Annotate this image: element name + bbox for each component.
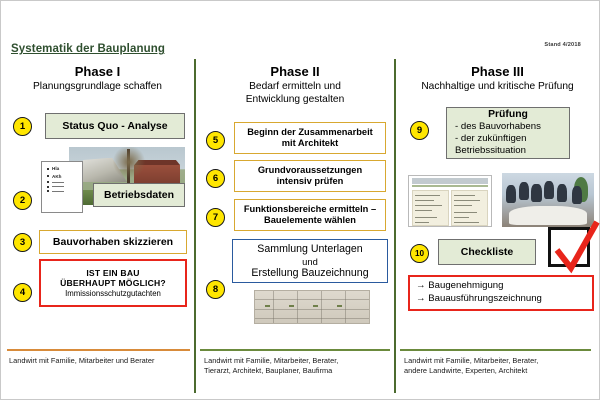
- phase-1-header: Phase I Planungsgrundlage schaffen: [7, 59, 188, 93]
- step-10-label: Checkliste: [461, 246, 514, 258]
- doc-pane: [451, 190, 488, 226]
- step-8-line-3: Erstellung Bauzeichnung: [251, 267, 368, 280]
- step-8-box[interactable]: Sammlung Unterlagen und Erstellung Bauze…: [232, 239, 388, 283]
- step-number-3[interactable]: 3: [13, 233, 32, 252]
- phase-2-header: Phase II Bedarf ermitteln und Entwicklun…: [202, 59, 388, 106]
- result-box[interactable]: → Baugenehmigung → Bauausführungszeichnu…: [408, 275, 594, 311]
- doc-header-bar: [412, 178, 488, 184]
- data-row: [47, 190, 77, 192]
- phase-2-heading: Phase II: [202, 65, 388, 80]
- step-number-1[interactable]: 1: [13, 117, 32, 136]
- step-7-line-1: Funktionsbereiche ermitteln –: [244, 204, 376, 215]
- phase-1-subheading: Planungsgrundlage schaffen: [7, 81, 188, 93]
- phase-3-column: Phase III Nachhaltige und kritische Prüf…: [396, 59, 599, 393]
- result-line-2: → Bauausführungszeichnung: [416, 293, 542, 306]
- phase-3-footer-line-1: Landwirt mit Familie, Mitarbeiter, Berat…: [404, 356, 593, 366]
- doc-subheader-bar: [412, 185, 488, 187]
- phase-2-footer-line-1: Landwirt mit Familie, Mitarbeiter, Berat…: [204, 356, 388, 366]
- doc-pane: [412, 190, 449, 226]
- result-line-1: → Baugenehmigung: [416, 280, 503, 293]
- phase-3-footer-line-2: andere Landwirte, Experten, Architekt: [404, 366, 593, 376]
- step-3-label: Bauvorhaben skizzieren: [53, 236, 173, 248]
- step-9-box[interactable]: Prüfung - des Bauvorhabens - der zukünft…: [446, 107, 570, 159]
- phase-3-body: 9 Prüfung - des Bauvorhabens - der zukün…: [402, 99, 593, 351]
- phase-1-heading: Phase I: [7, 65, 188, 80]
- step-6-box[interactable]: Grundvoraussetzungen intensiv prüfen: [234, 160, 386, 192]
- step-9-line-1: - des Bauvorhabens: [455, 121, 541, 133]
- step-8-line-1: Sammlung Unterlagen: [257, 243, 362, 256]
- checkmark-svg: [547, 220, 600, 278]
- step-9-line-3: Betriebssituation: [455, 145, 526, 157]
- phase-3-footer: Landwirt mit Familie, Mitarbeiter, Berat…: [404, 356, 593, 376]
- step-2-box[interactable]: Betriebsdaten: [93, 183, 185, 207]
- step-9-line-2: - der zukünftigen: [455, 133, 526, 145]
- step-1-box[interactable]: Status Quo - Analyse: [45, 113, 185, 139]
- step-8-line-2: und: [302, 256, 318, 267]
- checklist-document-thumbnail: [408, 175, 492, 227]
- step-7-box[interactable]: Funktionsbereiche ermitteln – Bauelement…: [234, 199, 386, 231]
- step-5-box[interactable]: Beginn der Zusammenarbeit mit Architekt: [234, 122, 386, 154]
- phase-3-header: Phase III Nachhaltige und kritische Prüf…: [402, 59, 593, 93]
- step-5-line-2: mit Architekt: [282, 138, 338, 149]
- step-9-title: Prüfung: [455, 109, 561, 121]
- data-row: AKh: [47, 174, 77, 179]
- group-meeting-photo: [502, 173, 594, 227]
- construction-drawing-photo: [254, 290, 370, 324]
- page-title: Systematik der Bauplanung: [11, 43, 165, 55]
- phase-3-subheading: Nachhaltige und kritische Prüfung: [402, 81, 593, 93]
- step-number-10[interactable]: 10: [410, 244, 429, 263]
- step-6-line-1: Grundvoraussetzungen: [258, 165, 362, 176]
- step-5-line-1: Beginn der Zusammenarbeit: [247, 127, 373, 138]
- phase-columns: Phase I Planungsgrundlage schaffen 1 Sta…: [1, 59, 599, 393]
- step-10-box[interactable]: Checkliste: [438, 239, 536, 265]
- step-number-5[interactable]: 5: [206, 131, 225, 150]
- step-number-7[interactable]: 7: [206, 208, 225, 227]
- phase-1-footer: Landwirt mit Familie, Mitarbeiter und Be…: [9, 356, 188, 366]
- phase-2-footer: Landwirt mit Familie, Mitarbeiter, Berat…: [204, 356, 388, 376]
- step-2-label: Betriebsdaten: [104, 189, 174, 201]
- step-6-line-2: intensiv prüfen: [277, 176, 344, 187]
- step-4-line-1: IST EIN BAU: [86, 268, 139, 278]
- step-number-9[interactable]: 9: [410, 121, 429, 140]
- step-number-2[interactable]: 2: [13, 191, 32, 210]
- slide-canvas: Systematik der Bauplanung Stand 4/2018 P…: [0, 0, 600, 400]
- doc-panes: [409, 190, 491, 226]
- step-1-label: Status Quo - Analyse: [62, 120, 167, 132]
- red-checkmark-icon: [548, 227, 590, 267]
- phase-2-subheading-line-1: Bedarf ermitteln und: [202, 81, 388, 93]
- step-number-6[interactable]: 6: [206, 169, 225, 188]
- data-row: [47, 186, 77, 188]
- tree-shape: [127, 149, 130, 185]
- data-row: [47, 181, 77, 183]
- data-row: Hla: [47, 166, 77, 171]
- step-4-box[interactable]: IST EIN BAU ÜBERHAUPT MÖGLICH? Immission…: [39, 259, 187, 307]
- revision-stamp: Stand 4/2018: [544, 42, 581, 48]
- data-row-label: AKh: [52, 174, 61, 179]
- step-number-4[interactable]: 4: [13, 283, 32, 302]
- phase-2-body: 5 Beginn der Zusammenarbeit mit Architek…: [202, 112, 388, 364]
- phase-2-footer-line-2: Tierarzt, Architekt, Bauplaner, Baufirma: [204, 366, 388, 376]
- phase-2-column: Phase II Bedarf ermitteln und Entwicklun…: [194, 59, 396, 393]
- step-3-box[interactable]: Bauvorhaben skizzieren: [39, 230, 187, 254]
- phase-2-subheading-line-2: Entwicklung gestalten: [202, 94, 388, 106]
- phase-1-column: Phase I Planungsgrundlage schaffen 1 Sta…: [1, 59, 194, 393]
- data-row-label: Hla: [52, 166, 59, 171]
- phase-1-divider: [7, 349, 190, 351]
- step-7-line-2: Bauelemente wählen: [264, 215, 356, 226]
- step-4-line-3: Immissionsschutzgutachten: [65, 289, 161, 298]
- step-number-8[interactable]: 8: [206, 280, 225, 299]
- operating-data-list-thumbnail: Hla AKh: [41, 161, 83, 213]
- phase-3-heading: Phase III: [402, 65, 593, 80]
- phase-2-divider: [200, 349, 390, 351]
- phase-3-divider: [400, 349, 591, 351]
- phase-1-body: 1 Status Quo - Analyse 2 Hla AKh: [7, 99, 188, 351]
- step-4-line-2: ÜBERHAUPT MÖGLICH?: [60, 278, 166, 288]
